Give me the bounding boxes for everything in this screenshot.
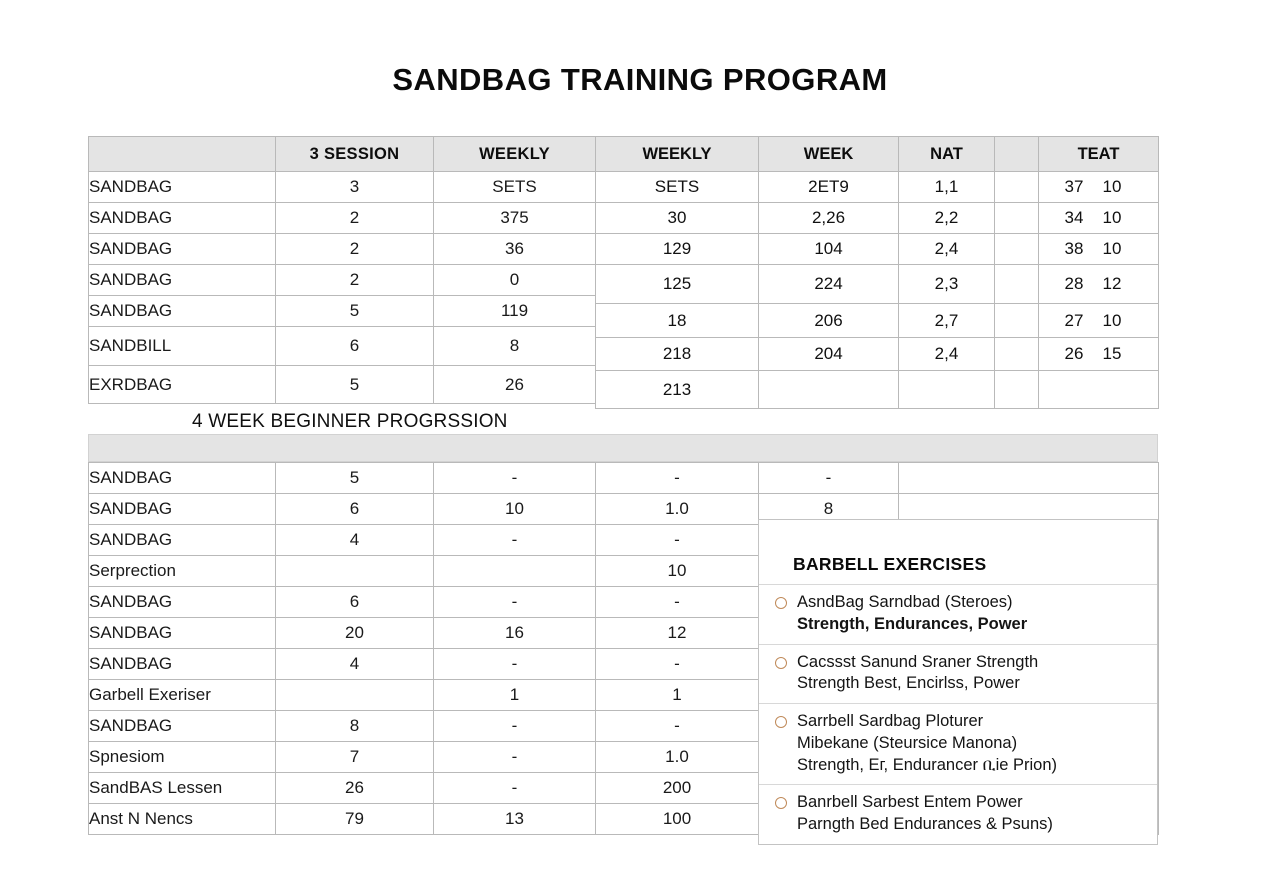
row-blank	[995, 304, 1039, 338]
row-c1: 20	[276, 618, 434, 649]
header-cell-weekly-1: WEEKLY	[434, 137, 596, 172]
row-teat-b: 10	[1103, 239, 1122, 258]
row-label: SANDBAG	[89, 234, 276, 265]
barbell-exercises-panel: BARBELL EXERCISES AsndBag Sarndbad (Ster…	[758, 519, 1158, 845]
row-label: Garbell Exeriser	[89, 680, 276, 711]
row-c1: 5	[276, 463, 434, 494]
row-teat: 2710	[1039, 304, 1159, 338]
circle-bullet-icon	[775, 716, 787, 728]
row-label: SANDBAG	[89, 525, 276, 556]
row-weekly1: 0	[434, 265, 596, 296]
row-week: 2ET9	[759, 172, 899, 203]
row-teat-b: 15	[1103, 344, 1122, 363]
row-3session: 5	[276, 366, 434, 404]
header-cell-weekly-2: WEEKLY	[596, 137, 759, 172]
list-item-text: Sarrbell Sardbag Ploturer Mibekane (Steu…	[797, 711, 1149, 776]
row-c3: 100	[596, 804, 759, 835]
row-c2: -	[434, 525, 596, 556]
row-teat-b: 10	[1103, 208, 1122, 227]
row-c2: 13	[434, 804, 596, 835]
list-item-line1: AsndBag Sarndbad (Steroеs)	[797, 592, 1149, 614]
row-teat-a: 27	[1065, 311, 1103, 331]
row-c1	[276, 556, 434, 587]
row-c2: -	[434, 773, 596, 804]
list-item-line2: Mibekane (Steursice Manona)	[797, 733, 1149, 755]
row-label: Spnesiom	[89, 742, 276, 773]
row-label: Anst N Nencs	[89, 804, 276, 835]
row-c2: -	[434, 742, 596, 773]
row-c1: 8	[276, 711, 434, 742]
table-header-row-right: WEEKLY WEEK NAT TEAT	[596, 137, 1159, 172]
table-row: 125 224 2,3 2812	[596, 265, 1159, 304]
row-teat: 3710	[1039, 172, 1159, 203]
list-item-text: Banrbell Sarbest Entem Power Parngth Bed…	[797, 792, 1149, 836]
row-c5	[899, 463, 1159, 494]
row-teat: 2615	[1039, 338, 1159, 371]
row-nat: 2,3	[899, 265, 995, 304]
row-label: Serprection	[89, 556, 276, 587]
row-label: SANDBAG	[89, 296, 276, 327]
row-c1: 4	[276, 649, 434, 680]
row-blank	[995, 371, 1039, 409]
row-blank	[995, 338, 1039, 371]
row-week: 224	[759, 265, 899, 304]
row-c3: 1.0	[596, 742, 759, 773]
row-c3: 200	[596, 773, 759, 804]
row-label: SANDBAG	[89, 711, 276, 742]
row-3session: 6	[276, 327, 434, 366]
row-c2	[434, 556, 596, 587]
row-c3: -	[596, 463, 759, 494]
row-3session: 2	[276, 265, 434, 296]
row-c2: 10	[434, 494, 596, 525]
row-c1	[276, 680, 434, 711]
row-week	[759, 371, 899, 409]
row-c3: -	[596, 525, 759, 556]
row-week: 2,26	[759, 203, 899, 234]
row-week: 206	[759, 304, 899, 338]
row-c3: 1.0	[596, 494, 759, 525]
row-label: SANDBAG	[89, 618, 276, 649]
row-c1: 7	[276, 742, 434, 773]
row-weekly2: SETS	[596, 172, 759, 203]
row-label: SANDBAG	[89, 494, 276, 525]
row-nat: 2,4	[899, 234, 995, 265]
row-label: SANDBILL	[89, 327, 276, 366]
progression-header-band	[88, 434, 1158, 462]
row-teat-b: 10	[1103, 177, 1122, 196]
row-c2: -	[434, 711, 596, 742]
row-teat: 2812	[1039, 265, 1159, 304]
row-label: SANDBAG	[89, 587, 276, 618]
row-blank	[995, 172, 1039, 203]
table-row: SANDBAG 5 - - -	[89, 463, 1159, 494]
row-teat-a: 28	[1065, 274, 1103, 294]
header-cell-blank	[89, 137, 276, 172]
row-nat: 1,1	[899, 172, 995, 203]
row-c1: 26	[276, 773, 434, 804]
row-c3: -	[596, 711, 759, 742]
row-c3: -	[596, 587, 759, 618]
header-cell-teat: TEAT	[1039, 137, 1159, 172]
row-weekly1: 36	[434, 234, 596, 265]
row-nat: 2,7	[899, 304, 995, 338]
header-cell-blank-2	[995, 137, 1039, 172]
row-weekly2: 218	[596, 338, 759, 371]
row-label: SANDBAG	[89, 649, 276, 680]
row-label: SANDBAG	[89, 172, 276, 203]
row-nat: 2,2	[899, 203, 995, 234]
list-item-text: AsndBag Sarndbad (Steroеs) Strength, End…	[797, 592, 1149, 636]
row-weekly1: 375	[434, 203, 596, 234]
row-c2: 1	[434, 680, 596, 711]
row-weekly2: 18	[596, 304, 759, 338]
row-teat-a: 34	[1065, 208, 1103, 228]
list-item: Sarrbell Sardbag Ploturer Mibekane (Steu…	[759, 704, 1157, 785]
row-label: SANDBAG	[89, 203, 276, 234]
row-weekly1: 119	[434, 296, 596, 327]
list-item: Banrbell Sarbest Entem Power Parngth Bed…	[759, 785, 1157, 844]
row-teat	[1039, 371, 1159, 409]
row-c1: 6	[276, 587, 434, 618]
header-cell-3-session: 3 SESSION	[276, 137, 434, 172]
row-c3: 12	[596, 618, 759, 649]
list-item-line1: Sarrbell Sardbag Ploturer	[797, 711, 1149, 733]
row-c3: 1	[596, 680, 759, 711]
list-item-line1: Cacssst Sanund Sraner Strength	[797, 652, 1149, 674]
row-label: SANDBAG	[89, 463, 276, 494]
row-weekly1: 8	[434, 327, 596, 366]
row-weekly2: 30	[596, 203, 759, 234]
row-c2: -	[434, 587, 596, 618]
row-teat-b: 10	[1103, 311, 1122, 330]
row-c1: 6	[276, 494, 434, 525]
table-row: 129 104 2,4 3810	[596, 234, 1159, 265]
list-item-line3: Strength, Eг, Endurancer ቢie Prion)	[797, 755, 1149, 777]
table-row: 213	[596, 371, 1159, 409]
row-c4: -	[759, 463, 899, 494]
panel-title: BARBELL EXERCISES	[759, 520, 1157, 585]
overview-table-right: WEEKLY WEEK NAT TEAT SETS 2ET9 1,1 3710 …	[595, 136, 1159, 409]
row-week: 104	[759, 234, 899, 265]
list-item-line2: Strength, Endurances, Power	[797, 614, 1149, 636]
row-nat: 2,4	[899, 338, 995, 371]
row-teat-a: 37	[1065, 177, 1103, 197]
circle-bullet-icon	[775, 657, 787, 669]
row-c2: -	[434, 463, 596, 494]
row-nat	[899, 371, 995, 409]
circle-bullet-icon	[775, 597, 787, 609]
row-c3: 10	[596, 556, 759, 587]
row-blank	[995, 234, 1039, 265]
row-label: SANDBAG	[89, 265, 276, 296]
row-weekly1: 26	[434, 366, 596, 404]
row-teat: 3810	[1039, 234, 1159, 265]
list-item: Cacssst Sanund Sraner Strength Strength …	[759, 645, 1157, 705]
row-blank	[995, 265, 1039, 304]
row-3session: 5	[276, 296, 434, 327]
row-c1: 4	[276, 525, 434, 556]
row-label: SandBAS Lessen	[89, 773, 276, 804]
list-item-text: Cacssst Sanund Sraner Strength Strength …	[797, 652, 1149, 696]
header-cell-nat: NAT	[899, 137, 995, 172]
page-title: SANDBAG TRAINING PROGRAM	[0, 62, 1280, 98]
row-3session: 2	[276, 203, 434, 234]
row-3session: 3	[276, 172, 434, 203]
row-teat-a: 26	[1065, 344, 1103, 364]
row-3session: 2	[276, 234, 434, 265]
row-c2: 16	[434, 618, 596, 649]
table-row: 30 2,26 2,2 3410	[596, 203, 1159, 234]
row-weekly2: 125	[596, 265, 759, 304]
row-teat: 3410	[1039, 203, 1159, 234]
row-teat-a: 38	[1065, 239, 1103, 259]
table-row: 18 206 2,7 2710	[596, 304, 1159, 338]
row-week: 204	[759, 338, 899, 371]
row-weekly2: 213	[596, 371, 759, 409]
row-weekly2: 129	[596, 234, 759, 265]
row-blank	[995, 203, 1039, 234]
list-item: AsndBag Sarndbad (Steroеs) Strength, End…	[759, 585, 1157, 645]
row-teat-b: 12	[1103, 274, 1122, 293]
list-item-line2: Parngth Bed Endurances & Psuns)	[797, 814, 1149, 836]
section-caption: 4 WEEK BEGINNER PROGRSSION	[192, 411, 508, 433]
header-cell-week: WEEK	[759, 137, 899, 172]
row-c2: -	[434, 649, 596, 680]
row-weekly1: SETS	[434, 172, 596, 203]
table-row: 218 204 2,4 2615	[596, 338, 1159, 371]
document-page: SANDBAG TRAINING PROGRAM 3 SESSION WEEKL…	[0, 0, 1280, 896]
list-item-line1: Banrbell Sarbest Entem Power	[797, 792, 1149, 814]
circle-bullet-icon	[775, 797, 787, 809]
row-label: EXRDBAG	[89, 366, 276, 404]
row-c1: 79	[276, 804, 434, 835]
list-item-line2: Strength Best, Encirlss, Power	[797, 673, 1149, 695]
row-c3: -	[596, 649, 759, 680]
table-row: SETS 2ET9 1,1 3710	[596, 172, 1159, 203]
